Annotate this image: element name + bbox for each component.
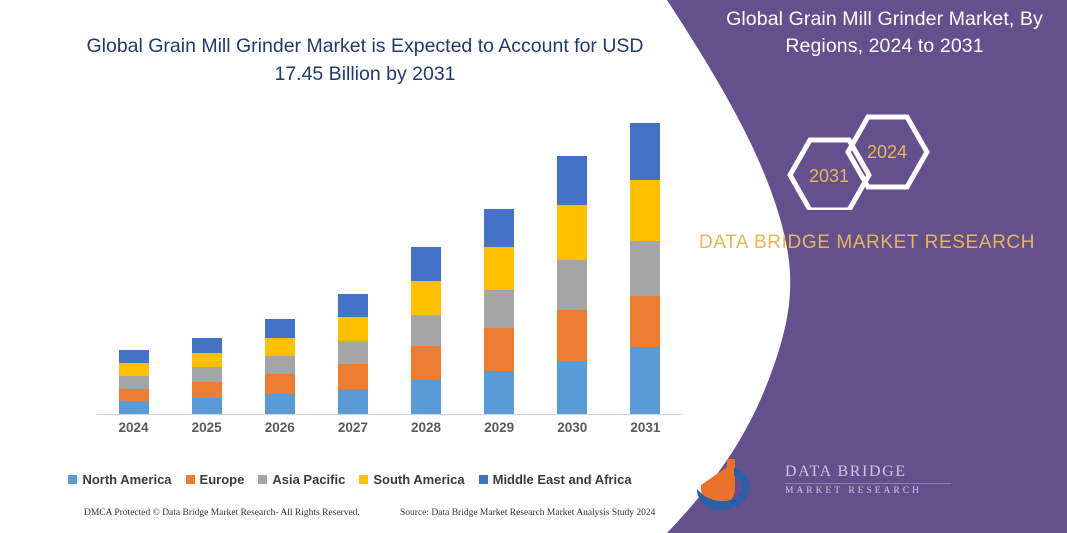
legend-item[interactable]: Middle East and Africa: [479, 472, 632, 487]
legend-label: South America: [373, 472, 464, 487]
bar-segment: [192, 382, 222, 398]
brand-name: DATA BRIDGE MARKET RESEARCH: [697, 228, 1037, 258]
x-tick-2024: 2024: [104, 420, 164, 435]
bar-segment: [484, 371, 514, 414]
bar-segment: [338, 389, 368, 414]
bar-column-2028: [411, 247, 441, 414]
legend-swatch-icon: [68, 475, 77, 484]
bar-segment: [192, 353, 222, 368]
bar-segment: [338, 341, 368, 364]
bar-segment: [119, 401, 149, 414]
data-bridge-logo: DATA BRIDGE MARKET RESEARCH: [693, 455, 1043, 515]
legend-swatch-icon: [479, 475, 488, 484]
bar-segment: [119, 363, 149, 376]
x-axis-tick-labels: 20242025202620272028202920302031: [97, 420, 682, 442]
legend-item[interactable]: Europe: [186, 472, 245, 487]
bar-segment: [411, 380, 441, 414]
bar-segment: [630, 123, 660, 180]
bar-column-2030: [557, 156, 587, 414]
bar-segment: [484, 328, 514, 370]
bar-column-2026: [265, 319, 295, 414]
logo-mark-icon: [693, 455, 783, 513]
bar-segment: [557, 205, 587, 260]
bar-segment: [411, 281, 441, 315]
bar-segment: [630, 347, 660, 414]
bar-column-2025: [192, 338, 222, 414]
legend-label: Middle East and Africa: [493, 472, 632, 487]
bar-segment: [411, 315, 441, 346]
bar-segment: [411, 346, 441, 380]
chart-plot-area: [97, 120, 682, 415]
legend-label: Asia Pacific: [272, 472, 345, 487]
brand-panel: Global Grain Mill Grinder Market, By Reg…: [667, 0, 1067, 533]
legend-swatch-icon: [359, 475, 368, 484]
bar-segment: [338, 317, 368, 340]
legend-item[interactable]: South America: [359, 472, 464, 487]
infographic-root: Global Grain Mill Grinder Market is Expe…: [0, 0, 1067, 533]
bar-segment: [192, 398, 222, 414]
bar-segment: [484, 247, 514, 289]
logo-divider: [785, 483, 951, 484]
bar-segment: [338, 364, 368, 389]
x-tick-2025: 2025: [177, 420, 237, 435]
legend-swatch-icon: [186, 475, 195, 484]
legend-label: Europe: [200, 472, 245, 487]
stacked-bars: [97, 120, 682, 414]
brand-panel-content: Global Grain Mill Grinder Market, By Reg…: [667, 0, 1067, 533]
bar-segment: [557, 156, 587, 205]
x-tick-2027: 2027: [323, 420, 383, 435]
bar-segment: [119, 376, 149, 389]
x-tick-2029: 2029: [469, 420, 529, 435]
bar-segment: [557, 361, 587, 414]
bar-segment: [265, 394, 295, 414]
bar-segment: [265, 319, 295, 338]
legend-item[interactable]: Asia Pacific: [258, 472, 345, 487]
x-axis-line: [97, 414, 682, 415]
bar-column-2024: [119, 350, 149, 414]
footer-source: Source: Data Bridge Market Research Mark…: [400, 508, 655, 518]
bar-segment: [119, 389, 149, 402]
bar-segment: [630, 296, 660, 347]
footer-copyright: DMCA Protected © Data Bridge Market Rese…: [84, 508, 360, 518]
bar-segment: [630, 241, 660, 296]
bar-segment: [265, 356, 295, 374]
bar-segment: [338, 294, 368, 317]
bar-column-2029: [484, 209, 514, 414]
chart-legend: North AmericaEuropeAsia PacificSouth Ame…: [0, 472, 700, 487]
hexagon-2024-label: 2024: [867, 142, 907, 162]
bar-column-2031: [630, 123, 660, 414]
bar-segment: [265, 338, 295, 356]
logo-line-2: MARKET RESEARCH: [785, 486, 951, 496]
bar-column-2027: [338, 294, 368, 414]
bar-segment: [119, 350, 149, 363]
legend-item[interactable]: North America: [68, 472, 171, 487]
bar-segment: [484, 290, 514, 328]
footer: DMCA Protected © Data Bridge Market Rese…: [0, 508, 700, 526]
bar-segment: [557, 260, 587, 310]
panel-title: Global Grain Mill Grinder Market, By Reg…: [712, 6, 1057, 60]
legend-label: North America: [82, 472, 171, 487]
logo-line-1: DATA BRIDGE: [785, 463, 951, 481]
bar-segment: [192, 338, 222, 353]
page-title: Global Grain Mill Grinder Market is Expe…: [60, 32, 670, 88]
bar-segment: [630, 180, 660, 240]
hexagon-2031-label: 2031: [809, 166, 849, 186]
legend-swatch-icon: [258, 475, 267, 484]
bar-segment: [557, 310, 587, 361]
x-tick-2026: 2026: [250, 420, 310, 435]
bar-segment: [484, 209, 514, 247]
bar-segment: [411, 247, 441, 281]
bar-segment: [192, 367, 222, 382]
x-tick-2028: 2028: [396, 420, 456, 435]
x-tick-2030: 2030: [542, 420, 602, 435]
logo-wordmark: DATA BRIDGE MARKET RESEARCH: [785, 463, 951, 496]
bar-segment: [265, 374, 295, 393]
hexagon-pair: 2024 2031: [767, 95, 967, 210]
hexagon-icons: 2024 2031: [767, 95, 967, 210]
